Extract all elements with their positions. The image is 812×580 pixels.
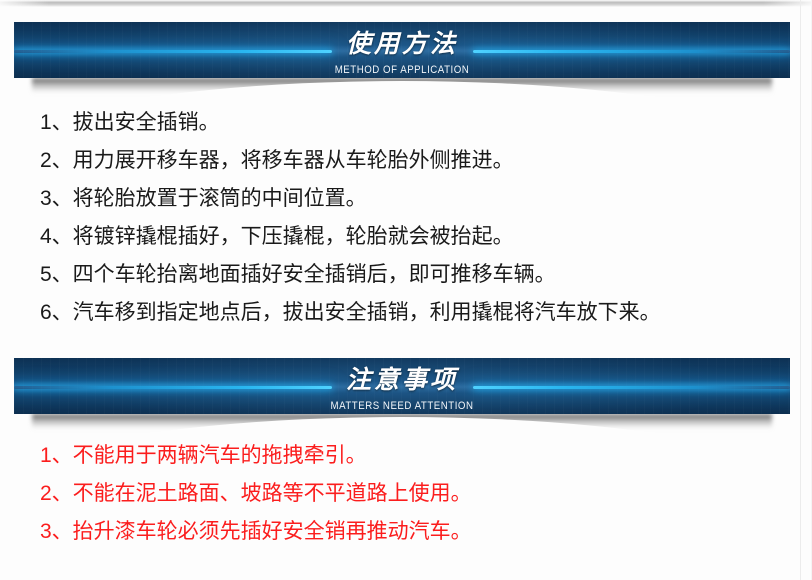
attention-notes-list: 1、不能用于两辆汽车的拖拽牵引。 2、不能在泥土路面、坡路等不平道路上使用。 3…	[40, 437, 472, 551]
method-steps-list: 1、拔出安全插销。 2、用力展开移车器，将移车器从车轮胎外侧推进。 3、将轮胎放…	[40, 104, 661, 332]
banner-bar: 使用方法 METHOD OF APPLICATION	[14, 22, 790, 78]
section-banner-attention: 注意事项 MATTERS NEED ATTENTION	[14, 358, 790, 440]
banner-title-group: 使用方法 METHOD OF APPLICATION	[14, 22, 790, 76]
section-banner-method: 使用方法 METHOD OF APPLICATION	[14, 22, 790, 104]
top-edge-strip	[0, 0, 812, 7]
banner-title-cn: 注意事项	[14, 358, 790, 392]
banner-title-en: MATTERS NEED ATTENTION	[61, 392, 744, 412]
list-item: 2、用力展开移车器，将移车器从车轮胎外侧推进。	[40, 142, 661, 180]
banner-title-en: METHOD OF APPLICATION	[61, 56, 744, 76]
banner-bar: 注意事项 MATTERS NEED ATTENTION	[14, 358, 790, 414]
banner-drop-shadow	[14, 78, 790, 104]
list-item: 5、四个车轮抬离地面插好安全插销后，即可推移车辆。	[40, 256, 661, 294]
banner-title-cn: 使用方法	[14, 22, 790, 56]
list-item: 6、汽车移到指定地点后，拔出安全插销，利用撬棍将汽车放下来。	[40, 294, 661, 332]
banner-title-group: 注意事项 MATTERS NEED ATTENTION	[14, 358, 790, 412]
list-item: 3、将轮胎放置于滚筒的中间位置。	[40, 180, 661, 218]
list-item: 1、不能用于两辆汽车的拖拽牵引。	[40, 437, 472, 475]
list-item: 2、不能在泥土路面、坡路等不平道路上使用。	[40, 475, 472, 513]
list-item: 3、抬升漆车轮必须先插好安全销再推动汽车。	[40, 513, 472, 551]
list-item: 4、将镀锌撬棍插好，下压撬棍，轮胎就会被抬起。	[40, 218, 661, 256]
list-item: 1、拔出安全插销。	[40, 104, 661, 142]
right-edge-rule	[800, 0, 801, 580]
